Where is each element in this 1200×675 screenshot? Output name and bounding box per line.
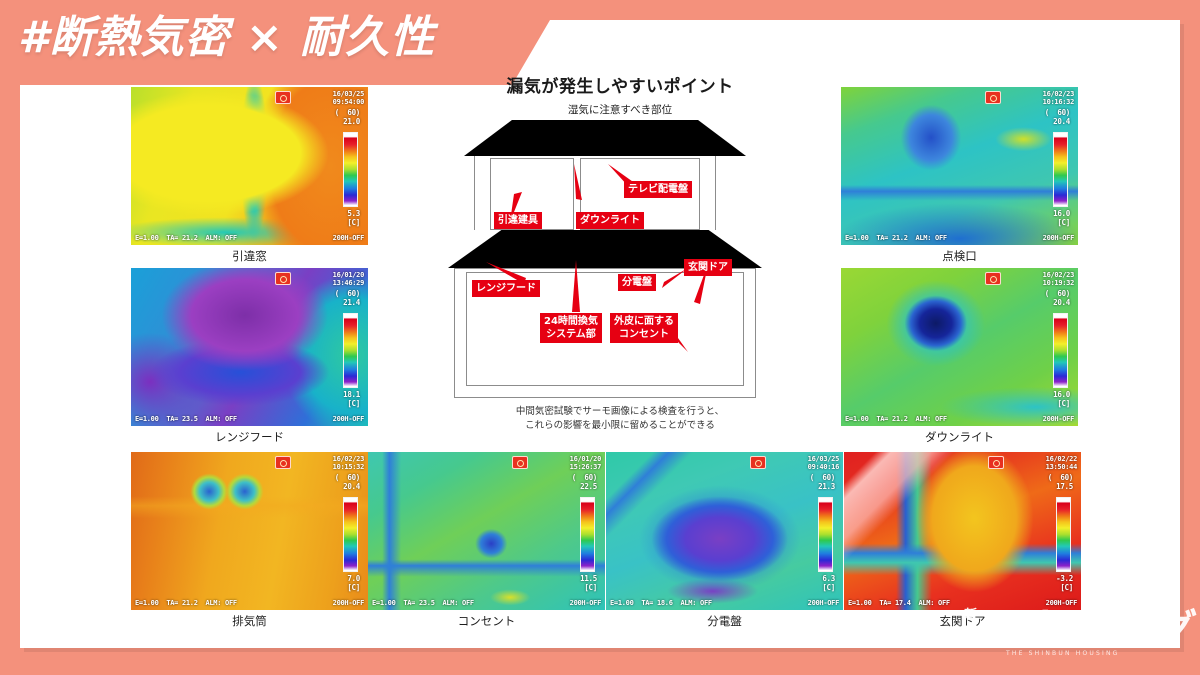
thermal-caption: 点検口	[841, 248, 1078, 264]
diagram-label-range-hood: レンジフード	[472, 280, 540, 297]
thermal-range: ( 60) 22.5	[572, 473, 597, 491]
thermal-tile-tenkenguchi[interactable]: 16/02/23 10:16:32 ( 60) 20.4 16.0 [C] E=…	[841, 87, 1078, 245]
thermal-status-right: 200H-OFF	[333, 599, 364, 607]
camera-icon	[512, 456, 528, 469]
thermal-image: 16/01/20 13:46:29 ( 60) 21.4 18.1 [C] E=…	[131, 268, 368, 426]
thermal-status-left: E=1.00 TA= 17.4 ALM: OFF	[848, 599, 950, 607]
thermal-field	[131, 87, 368, 245]
thermal-timestamp: 16/02/23 10:15:32	[333, 455, 364, 471]
thermal-status-right: 200H-OFF	[333, 234, 364, 242]
thermal-caption: レンジフード	[131, 429, 368, 445]
color-scale-bar	[1056, 497, 1071, 572]
thermal-status-right: 200H-OFF	[570, 599, 601, 607]
thermal-image: 16/01/20 15:26:37 ( 60) 22.5 11.5 [C] E=…	[368, 452, 605, 610]
thermal-status-bar: E=1.00 TA= 21.2 ALM: OFF 200H-OFF	[135, 599, 364, 607]
thermal-image: 16/03/25 09:54:00 ( 60) 21.0 5.3 [C] E=1…	[131, 87, 368, 245]
color-scale-bar	[343, 497, 358, 572]
diagram-label-tv-haidenban: テレビ配電盤	[624, 181, 692, 198]
thermal-range: ( 60) 21.0	[335, 108, 360, 126]
thermal-field	[368, 452, 605, 610]
color-scale-bar	[818, 497, 833, 572]
color-scale-bar	[343, 132, 358, 207]
thermal-range: ( 60) 17.5	[1048, 473, 1073, 491]
thermal-temp-low: 18.1 [C]	[343, 390, 360, 408]
thermal-caption: 引違窓	[131, 248, 368, 264]
thermal-field	[841, 87, 1078, 245]
camera-icon	[275, 91, 291, 104]
thermal-tile-consent[interactable]: 16/01/20 15:26:37 ( 60) 22.5 11.5 [C] E=…	[368, 452, 605, 610]
thermal-field	[131, 268, 368, 426]
thermal-image: 16/02/22 13:50:44 ( 60) 17.5 -3.2 [C] E=…	[844, 452, 1081, 610]
camera-icon	[985, 91, 1001, 104]
thermal-caption: 分電盤	[606, 613, 843, 629]
camera-icon	[275, 272, 291, 285]
thermal-timestamp: 16/01/20 15:26:37	[570, 455, 601, 471]
thermal-status-left: E=1.00 TA= 21.2 ALM: OFF	[845, 415, 947, 423]
thermal-timestamp: 16/03/25 09:54:00	[333, 90, 364, 106]
thermal-status-left: E=1.00 TA= 21.2 ALM: OFF	[845, 234, 947, 242]
thermal-temp-low: 7.0 [C]	[347, 574, 360, 592]
color-scale-bar	[580, 497, 595, 572]
thermal-status-right: 200H-OFF	[1043, 234, 1074, 242]
thermal-status-right: 200H-OFF	[333, 415, 364, 423]
thermal-status-bar: E=1.00 TA= 17.4 ALM: OFF 200H-OFF	[848, 599, 1077, 607]
house-diagram: 漏気が発生しやすいポイント 湿気に注意すべき部位 引違建具 ダウンライト テレビ…	[440, 72, 800, 442]
camera-icon	[988, 456, 1004, 469]
thermal-tile-bundenban[interactable]: 16/03/25 09:40:16 ( 60) 21.3 6.3 [C] E=1…	[606, 452, 843, 610]
thermal-status-left: E=1.00 TA= 23.5 ALM: OFF	[372, 599, 474, 607]
thermal-status-right: 200H-OFF	[1046, 599, 1077, 607]
thermal-status-right: 200H-OFF	[1043, 415, 1074, 423]
slide-root: #断熱気密 × 耐久性 16/03/25 09:54:00 ( 60) 21.0…	[0, 0, 1200, 675]
thermal-timestamp: 16/02/23 10:16:32	[1043, 90, 1074, 106]
thermal-status-left: E=1.00 TA= 18.6 ALM: OFF	[610, 599, 712, 607]
thermal-status-bar: E=1.00 TA= 21.2 ALM: OFF 200H-OFF	[845, 415, 1074, 423]
thermal-temp-low: -3.2 [C]	[1056, 574, 1073, 592]
leader-lines	[440, 72, 800, 442]
thermal-status-left: E=1.00 TA= 21.2 ALM: OFF	[135, 599, 237, 607]
thermal-tile-downlight[interactable]: 16/02/23 10:19:32 ( 60) 20.4 16.0 [C] E=…	[841, 268, 1078, 426]
thermal-status-bar: E=1.00 TA= 23.5 ALM: OFF 200H-OFF	[135, 415, 364, 423]
thermal-temp-low: 16.0 [C]	[1053, 209, 1070, 227]
thermal-status-bar: E=1.00 TA= 18.6 ALM: OFF 200H-OFF	[610, 599, 839, 607]
thermal-field	[606, 452, 843, 610]
camera-icon	[985, 272, 1001, 285]
diagram-label-24h-ventilation: 24時間換気 システム部	[540, 313, 602, 343]
diagram-label-bundenban: 分電盤	[618, 274, 656, 291]
thermal-field	[131, 452, 368, 610]
diagram-label-gaihi-consent: 外皮に面する コンセント	[610, 313, 678, 343]
thermal-range: ( 60) 21.3	[810, 473, 835, 491]
thermal-timestamp: 16/02/23 10:19:32	[1043, 271, 1074, 287]
color-scale-bar	[1053, 132, 1068, 207]
thermal-image: 16/02/23 10:16:32 ( 60) 20.4 16.0 [C] E=…	[841, 87, 1078, 245]
thermal-tile-range-hood[interactable]: 16/01/20 13:46:29 ( 60) 21.4 18.1 [C] E=…	[131, 268, 368, 426]
diagram-note-line1: 中間気密試験でサーモ画像による検査を行うと、	[440, 405, 800, 419]
diagram-label-genkan-door: 玄関ドア	[684, 259, 732, 276]
thermal-field	[841, 268, 1078, 426]
thermal-status-bar: E=1.00 TA= 21.2 ALM: OFF 200H-OFF	[845, 234, 1074, 242]
thermal-status-left: E=1.00 TA= 21.2 ALM: OFF	[135, 234, 237, 242]
color-scale-bar	[1053, 313, 1068, 388]
thermal-temp-low: 5.3 [C]	[347, 209, 360, 227]
page-title: #断熱気密 × 耐久性	[18, 13, 435, 63]
thermal-timestamp: 16/02/22 13:50:44	[1046, 455, 1077, 471]
thermal-status-left: E=1.00 TA= 23.5 ALM: OFF	[135, 415, 237, 423]
thermal-tile-haikitou[interactable]: 16/02/23 10:15:32 ( 60) 20.4 7.0 [C] E=1…	[131, 452, 368, 610]
thermal-temp-low: 16.0 [C]	[1053, 390, 1070, 408]
thermal-timestamp: 16/01/20 13:46:29	[333, 271, 364, 287]
thermal-image: 16/02/23 10:19:32 ( 60) 20.4 16.0 [C] E=…	[841, 268, 1078, 426]
diagram-label-downlight: ダウンライト	[576, 212, 644, 229]
thermal-image: 16/03/25 09:40:16 ( 60) 21.3 6.3 [C] E=1…	[606, 452, 843, 610]
camera-icon	[750, 456, 766, 469]
thermal-caption: 玄関ドア	[844, 613, 1081, 629]
thermal-caption: 排気筒	[131, 613, 368, 629]
thermal-status-bar: E=1.00 TA= 21.2 ALM: OFF 200H-OFF	[135, 234, 364, 242]
thermal-timestamp: 16/03/25 09:40:16	[808, 455, 839, 471]
thermal-caption: ダウンライト	[841, 429, 1078, 445]
thermal-range: ( 60) 20.4	[335, 473, 360, 491]
thermal-status-bar: E=1.00 TA= 23.5 ALM: OFF 200H-OFF	[372, 599, 601, 607]
thermal-image: 16/02/23 10:15:32 ( 60) 20.4 7.0 [C] E=1…	[131, 452, 368, 610]
diagram-note: 中間気密試験でサーモ画像による検査を行うと、 これらの影響を最小限に留めることが…	[440, 405, 800, 433]
thermal-temp-low: 11.5 [C]	[580, 574, 597, 592]
camera-icon	[275, 456, 291, 469]
thermal-field	[844, 452, 1081, 610]
thermal-tile-hikichigai-mado[interactable]: 16/03/25 09:54:00 ( 60) 21.0 5.3 [C] E=1…	[131, 87, 368, 245]
thermal-caption: コンセント	[368, 613, 605, 629]
color-scale-bar	[343, 313, 358, 388]
thermal-temp-low: 6.3 [C]	[822, 574, 835, 592]
diagram-note-line2: これらの影響を最小限に留めることができる	[440, 419, 800, 433]
thermal-range: ( 60) 20.4	[1045, 289, 1070, 307]
thermal-range: ( 60) 21.4	[335, 289, 360, 307]
diagram-label-hikichigai-tategu: 引違建具	[494, 212, 542, 229]
thermal-range: ( 60) 20.4	[1045, 108, 1070, 126]
thermal-status-right: 200H-OFF	[808, 599, 839, 607]
thermal-tile-genkan-door[interactable]: 16/02/22 13:50:44 ( 60) 17.5 -3.2 [C] E=…	[844, 452, 1081, 610]
